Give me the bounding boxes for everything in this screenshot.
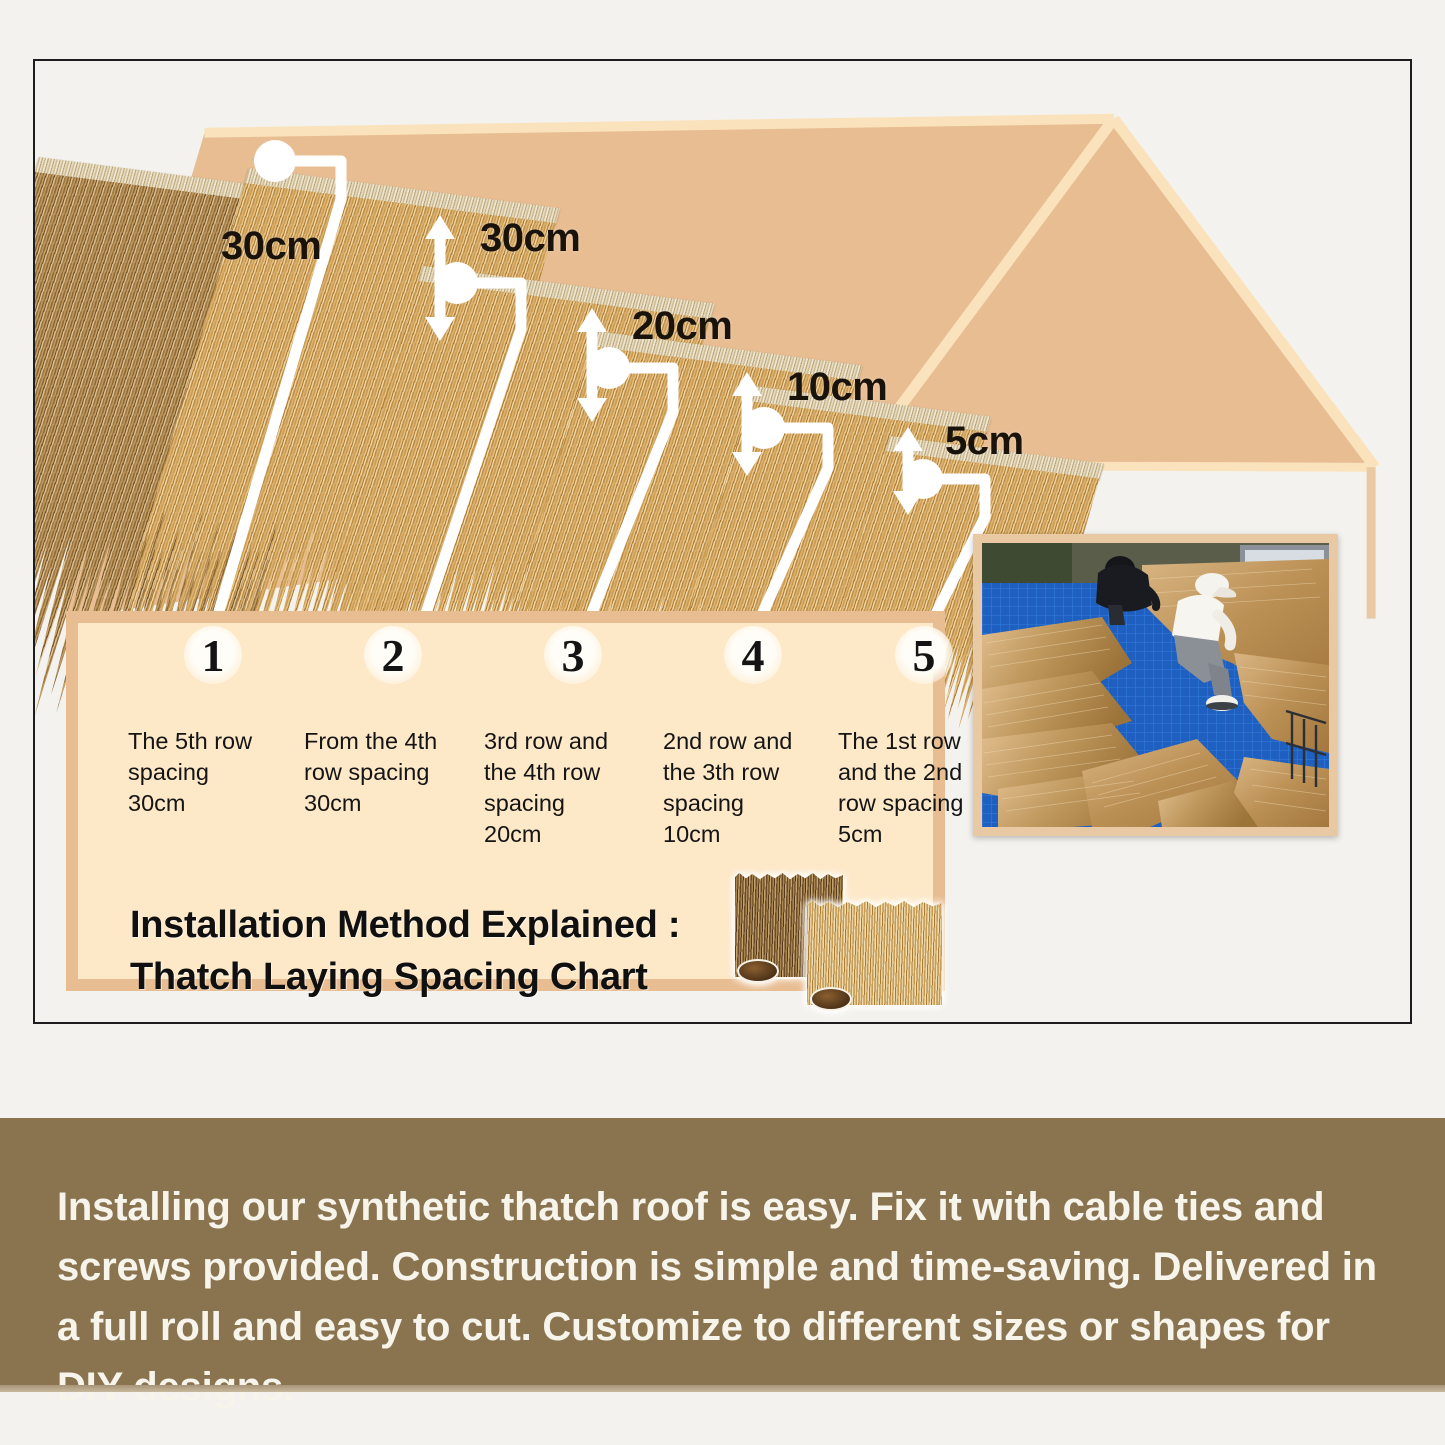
step-badge-5: 5 — [895, 626, 953, 684]
arrow-up-icon — [425, 215, 455, 239]
step-badge-number: 3 — [562, 629, 585, 682]
callout-knob-icon — [743, 407, 785, 449]
step-description-3: 3rd row and the 4th row spacing 20cm — [484, 726, 649, 850]
step-badge-3: 3 — [544, 626, 602, 684]
panel-title-line-2: Thatch Laying Spacing Chart — [130, 951, 680, 1003]
step-badge-number: 5 — [913, 629, 936, 682]
callout-label-1: 30cm — [221, 224, 321, 269]
thatch-roll-samples — [735, 873, 970, 1011]
callout-knob-icon — [903, 459, 943, 499]
banner-text: Installing our synthetic thatch roof is … — [57, 1177, 1387, 1417]
diagram-card: 30cm 30cm 20cm — [33, 59, 1412, 1024]
step-badge-4: 4 — [724, 626, 782, 684]
arrow-down-icon — [577, 398, 607, 422]
step-description-4: 2nd row and the 3th row spacing 10cm — [663, 726, 828, 850]
arrow-up-icon — [893, 427, 923, 451]
panel-title: Installation Method Explained : Thatch L… — [130, 899, 680, 1003]
step-badge-number: 1 — [202, 629, 225, 682]
thatch-roll-light — [807, 901, 942, 1005]
step-description-1: The 5th row spacing 30cm — [128, 726, 288, 819]
arrow-up-icon — [732, 372, 762, 396]
callout-leader-1 — [253, 139, 453, 669]
banner-bottom-strip — [0, 1385, 1445, 1392]
step-badge-1: 1 — [184, 626, 242, 684]
callout-knob-icon — [254, 140, 296, 182]
thatch-roll-butt-icon — [810, 987, 852, 1011]
step-description-2: From the 4th row spacing 30cm — [304, 726, 474, 819]
step-badge-number: 2 — [382, 629, 405, 682]
installation-photo-scene — [982, 543, 1329, 827]
step-descriptions: The 5th row spacing 30cm From the 4th ro… — [66, 726, 945, 876]
installation-photo — [973, 534, 1338, 836]
step-badge-2: 2 — [364, 626, 422, 684]
step-badge-number: 4 — [742, 629, 765, 682]
arrow-up-icon — [577, 308, 607, 332]
step-badges: 1 2 3 4 5 — [66, 609, 945, 699]
callout-label-4: 10cm — [787, 365, 887, 410]
bottom-banner: Installing our synthetic thatch roof is … — [0, 1118, 1445, 1385]
arrow-down-icon — [425, 317, 455, 341]
callout-label-3: 20cm — [632, 304, 732, 349]
step-description-5: The 1st row and the 2nd row spacing 5cm — [838, 726, 988, 850]
callout-knob-icon — [588, 347, 630, 389]
thatch-roll-butt-icon — [737, 959, 779, 983]
callout-label-2: 30cm — [480, 216, 580, 261]
callout-knob-icon — [436, 262, 478, 304]
panel-title-line-1: Installation Method Explained : — [130, 899, 680, 951]
callout-label-5: 5cm — [945, 419, 1024, 464]
arrow-down-icon — [732, 452, 762, 476]
